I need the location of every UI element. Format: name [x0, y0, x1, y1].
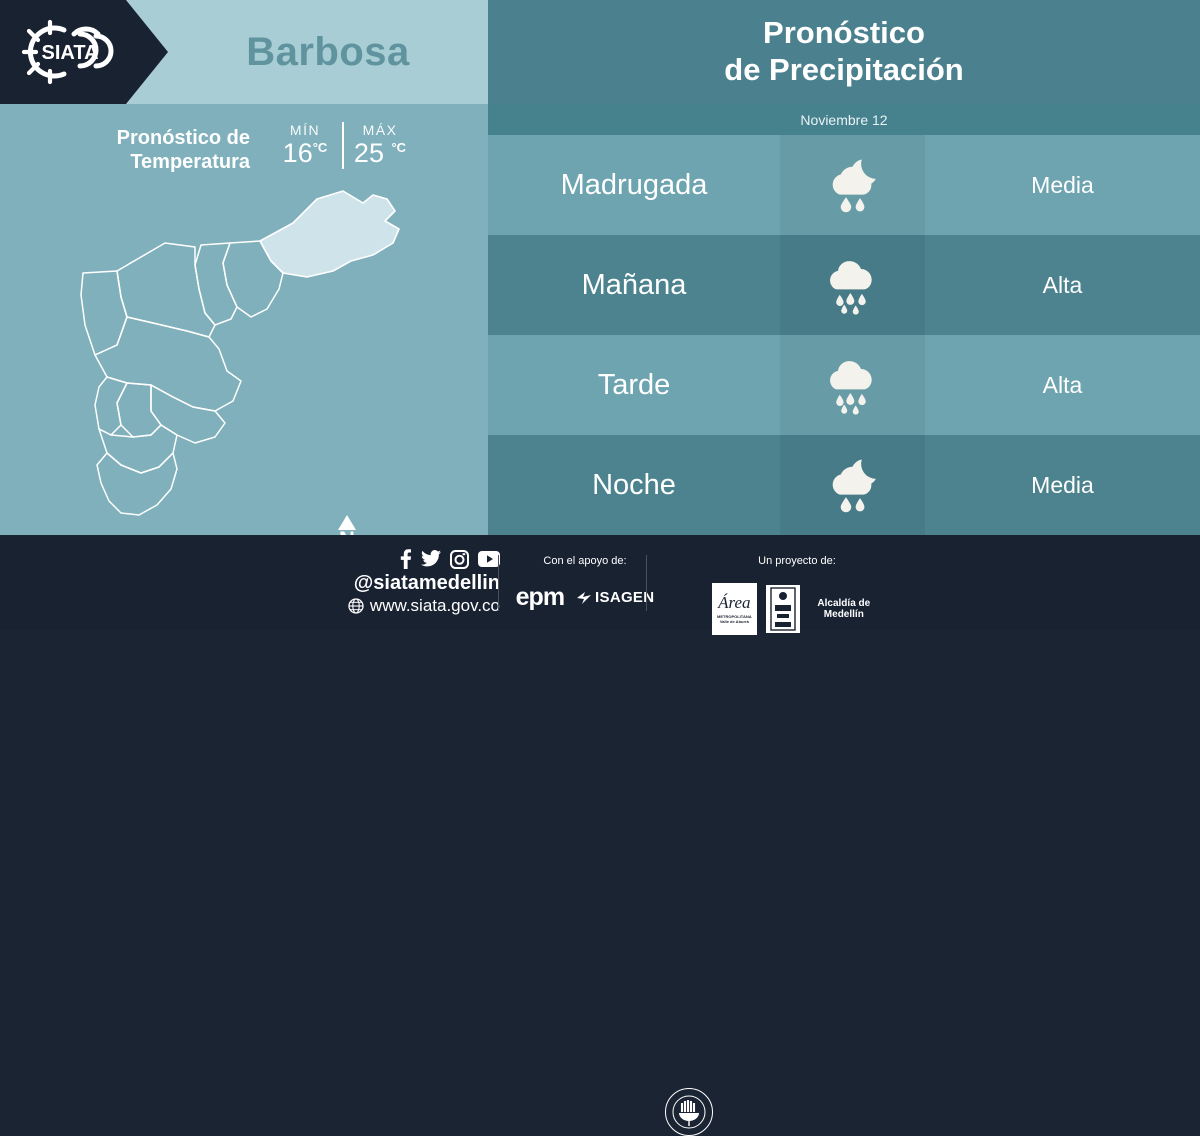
table-row: Madrugada Media — [488, 135, 1200, 235]
map-svg — [55, 185, 455, 525]
table-row: Mañana Alta — [488, 235, 1200, 335]
alcaldia-logo: Alcaldía de Medellín — [766, 585, 882, 633]
social-handle[interactable]: @siatamedellin — [300, 571, 500, 596]
precipitation-title-line2: de Precipitación — [724, 52, 963, 89]
temperature-title-line1: Pronóstico de — [40, 126, 250, 150]
map-region-bello — [117, 243, 215, 337]
row-period: Mañana — [488, 269, 780, 302]
date-bar: Noviembre 12 — [488, 104, 1200, 135]
website-row[interactable]: www.siata.gov.co — [300, 596, 500, 616]
row-period: Tarde — [488, 369, 780, 402]
forecast-table: Madrugada Media Mañana — [488, 135, 1200, 535]
temperature-values: MÍN 16°C MÁX 25 °C — [268, 122, 416, 169]
map-region-medellin — [95, 317, 241, 411]
alcaldia-name: Alcaldía de Medellín — [806, 598, 882, 620]
map-region-northwest — [81, 271, 127, 355]
row-period: Noche — [488, 469, 780, 502]
row-probability: Alta — [925, 372, 1200, 399]
max-value: 25 — [354, 138, 384, 168]
website-url[interactable]: www.siata.gov.co — [370, 596, 500, 616]
forecast-date: Noviembre 12 — [800, 112, 887, 128]
footer-divider-2 — [646, 555, 647, 611]
support-block: Con el apoyo de: epm ISAGEN — [505, 555, 665, 612]
row-probability: Alta — [925, 272, 1200, 299]
map-region-envigado — [151, 385, 225, 443]
moon-cloud-rain-icon — [780, 156, 925, 214]
map-region-laestrella — [99, 425, 177, 473]
epm-logo: epm — [516, 583, 564, 612]
temperature-title: Pronóstico de Temperatura — [40, 122, 250, 175]
seal-icon — [671, 1094, 707, 1130]
min-value-wrap: 16°C — [268, 138, 342, 169]
left-panel: SIATA Barbosa Pronóstico de Temperatura … — [0, 0, 488, 535]
footer-divider-1 — [498, 555, 499, 611]
cloud-heavy-rain-icon — [780, 354, 925, 416]
min-value: 16 — [283, 138, 313, 168]
isagen-logo: ISAGEN — [576, 589, 654, 606]
precipitation-title-line1: Pronóstico — [763, 15, 925, 52]
twitter-icon[interactable] — [421, 550, 441, 568]
project-caption: Un proyecto de: — [712, 555, 882, 567]
support-caption: Con el apoyo de: — [505, 555, 665, 567]
siata-logo-text: SIATA — [41, 42, 98, 64]
isagen-mark-icon — [576, 591, 592, 605]
instagram-icon[interactable] — [450, 550, 469, 569]
amva-subtitle: METROPOLITANA Valle de Aburrá — [717, 614, 752, 624]
right-panel: Pronóstico de Precipitación Noviembre 12… — [488, 0, 1200, 535]
social-icons — [300, 549, 500, 569]
min-label: MÍN — [268, 122, 342, 138]
row-probability: Media — [925, 472, 1200, 499]
facebook-icon[interactable] — [400, 549, 412, 569]
city-title: Barbosa — [168, 0, 488, 104]
max-unit: °C — [391, 140, 406, 155]
row-period: Madrugada — [488, 169, 780, 202]
globe-icon — [348, 598, 364, 614]
temperature-min: MÍN 16°C — [268, 122, 342, 169]
map-region-caldas — [97, 453, 177, 515]
max-label: MÁX — [344, 122, 416, 138]
university-seal-logo — [665, 1088, 713, 1136]
precipitation-header: Pronóstico de Precipitación — [488, 0, 1200, 104]
table-row: Noche Media — [488, 435, 1200, 535]
alcaldia-mark-icon — [766, 585, 800, 633]
aburra-valley-map: N — [55, 185, 455, 525]
sun-cloud-icon: SIATA — [14, 14, 126, 90]
siata-logo: SIATA — [14, 14, 126, 90]
infographic-root: SIATA Barbosa Pronóstico de Temperatura … — [0, 0, 1200, 630]
youtube-icon[interactable] — [478, 551, 500, 567]
amva-wordmark: Área — [718, 594, 750, 611]
row-probability: Media — [925, 172, 1200, 199]
map-region-copacabana — [195, 243, 237, 325]
min-unit: °C — [313, 140, 328, 155]
cloud-heavy-rain-icon — [780, 254, 925, 316]
temperature-title-line2: Temperatura — [40, 150, 250, 174]
support-logos: epm ISAGEN — [505, 583, 665, 612]
map-region-barbosa — [260, 191, 399, 277]
footer: @siatamedellin www.siata.gov.co Con el a… — [0, 535, 1200, 630]
temperature-max: MÁX 25 °C — [342, 122, 416, 169]
social-block: @siatamedellin www.siata.gov.co — [300, 549, 500, 616]
moon-cloud-rain-icon — [780, 456, 925, 514]
table-row: Tarde Alta — [488, 335, 1200, 435]
project-block: Un proyecto de: Área METROPOLITANA Valle… — [712, 555, 882, 635]
temperature-block: Pronóstico de Temperatura MÍN 16°C MÁX 2… — [40, 122, 450, 192]
project-logos: Área METROPOLITANA Valle de Aburrá — [712, 583, 882, 635]
amva-logo: Área METROPOLITANA Valle de Aburrá — [712, 583, 757, 635]
max-value-wrap: 25 °C — [344, 138, 416, 169]
